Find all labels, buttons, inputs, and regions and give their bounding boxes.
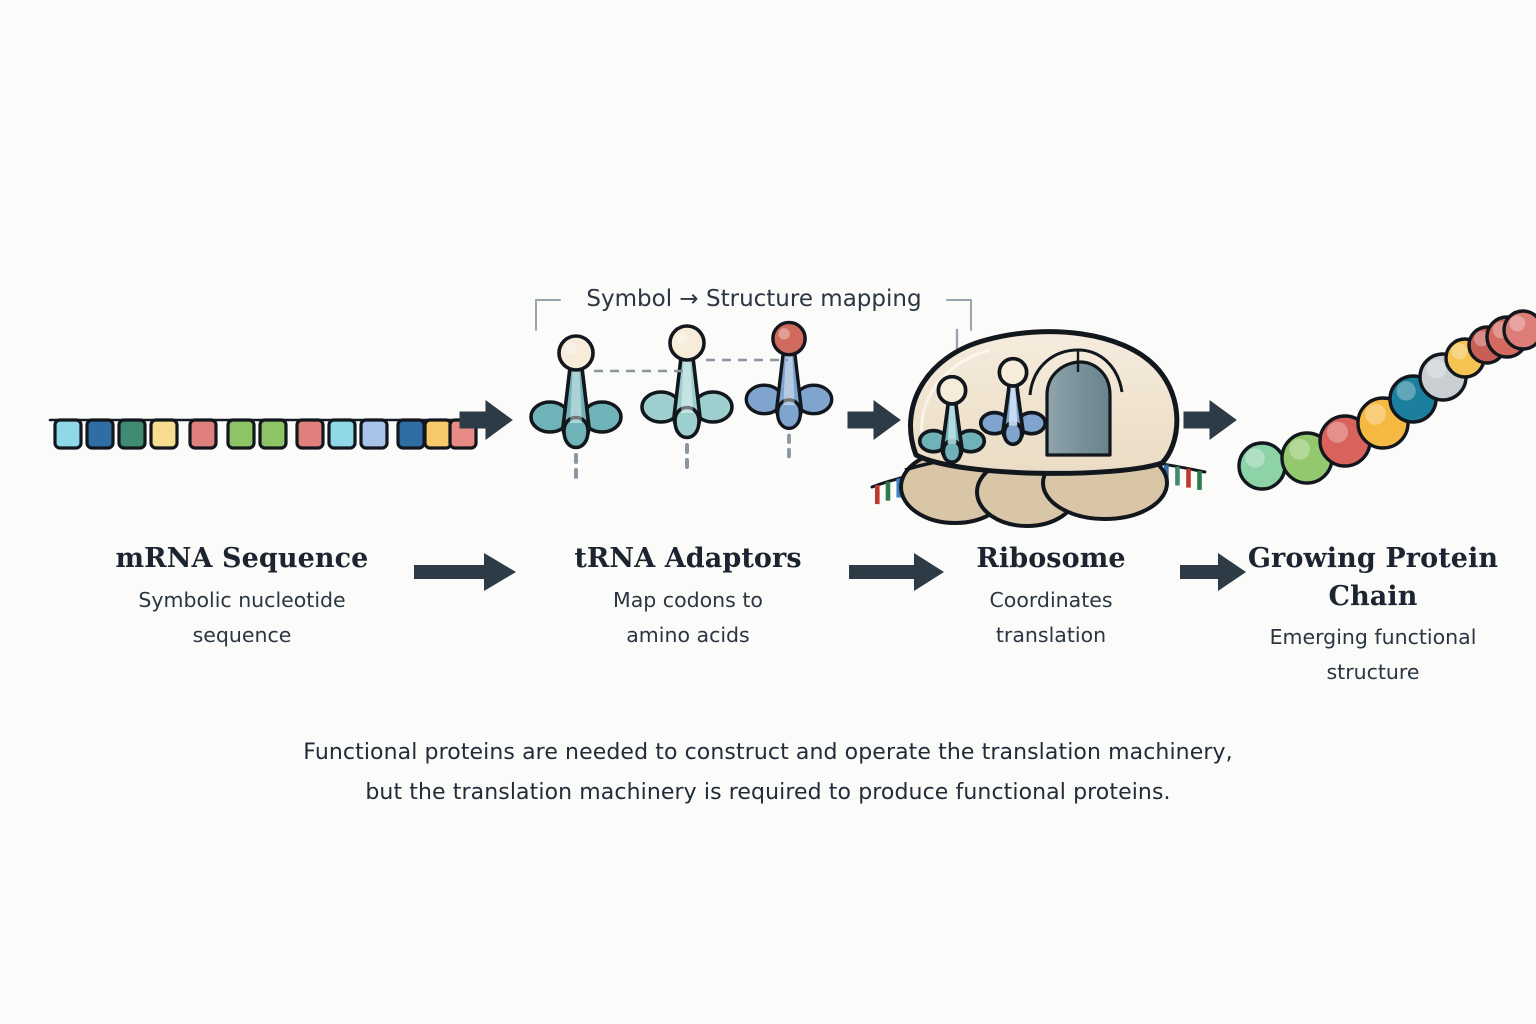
stage-protein-title-line1: Growing Protein [1238, 540, 1508, 578]
mrna-nucleotide-block [190, 420, 216, 448]
caption-line-1: Functional proteins are needed to constr… [168, 733, 1368, 773]
stage-mrna-subtitle-line1: Symbolic nucleotide [62, 583, 422, 618]
mrna-block-group [55, 420, 476, 448]
diagram-root: Symbol → Structure mapping mRNA Sequence… [0, 0, 1536, 1024]
translation-diagram-canvas [0, 0, 1536, 1024]
bead-highlight [1509, 315, 1525, 331]
mrna-sequence-graphic [50, 420, 476, 448]
mrna-nucleotide-block [361, 420, 387, 448]
mrna-nucleotide-block [55, 420, 81, 448]
uncharged-amino-acid [670, 326, 704, 360]
amino-acid-bead [1239, 443, 1285, 489]
stage-trna-subtitle-line1: Map codons to [508, 583, 868, 618]
mrna-nucleotide-block [297, 420, 323, 448]
mrna-nucleotide-block [329, 420, 355, 448]
mrna-nucleotide-block [151, 420, 177, 448]
background [0, 0, 1536, 1024]
stage-protein-subtitle-line2: structure [1228, 655, 1518, 690]
bracket-label: Symbol → Structure mapping [536, 286, 972, 312]
stage-ribosome-subtitle-line1: Coordinates [921, 583, 1181, 618]
bead-highlight [1365, 404, 1386, 425]
stage-trna-subtitle-line2: amino acids [508, 618, 868, 653]
bead-highlight [1327, 422, 1348, 443]
mrna-nucleotide-block [260, 420, 286, 448]
bead-highlight [1245, 448, 1264, 467]
charged-amino-acid [773, 322, 805, 354]
mrna-nucleotide-block [425, 420, 451, 448]
bead-highlight [1426, 359, 1445, 378]
caption-line-2: but the translation machinery is require… [168, 773, 1368, 813]
stage-ribosome-title: Ribosome [921, 540, 1181, 578]
stage-protein-title-line2: Chain [1238, 578, 1508, 616]
mrna-nucleotide-block [398, 420, 424, 448]
uncharged-amino-acid [559, 336, 593, 370]
mrna-nucleotide-block [228, 420, 254, 448]
stage-protein-subtitle-line1: Emerging functional [1228, 620, 1518, 655]
stage-mrna-subtitle-line2: sequence [62, 618, 422, 653]
mrna-nucleotide-block [119, 420, 145, 448]
stage-ribosome-subtitle-line2: translation [921, 618, 1181, 653]
stage-mrna-title: mRNA Sequence [62, 540, 422, 578]
mrna-nucleotide-block [87, 420, 113, 448]
bead-highlight [1289, 439, 1310, 460]
bead-highlight [1396, 381, 1415, 400]
stage-trna-title: tRNA Adaptors [508, 540, 868, 578]
bead-highlight [1451, 343, 1467, 359]
